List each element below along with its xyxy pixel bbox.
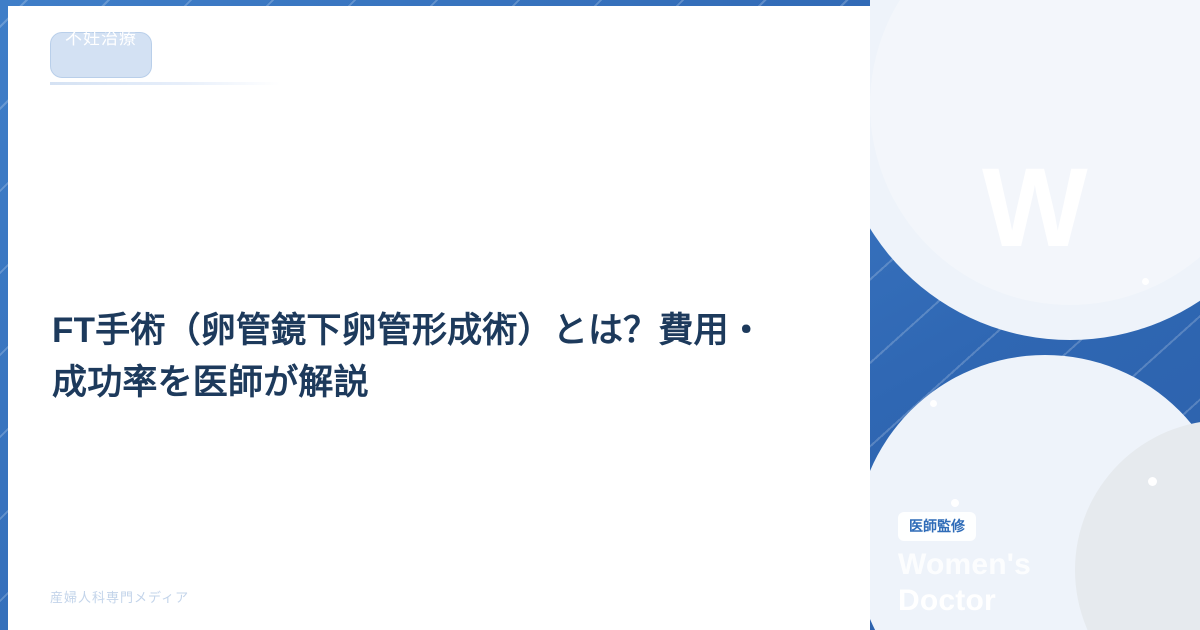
sparkle-dot-icon — [930, 400, 937, 407]
watermark-letter-w: W — [982, 152, 1086, 264]
content-card: 不妊治療 FT手術（卵管鏡下卵管形成術）とは？費用・成功率を医師が解説 産婦人科… — [8, 6, 870, 630]
brand-name: Women's Doctor — [898, 547, 1188, 618]
brand-block: 医師監修 Women's Doctor — [898, 512, 1188, 618]
brand-decoration-panel: W 医師監修 Women's Doctor — [870, 0, 1200, 630]
brand-name-line1: Women's — [898, 547, 1188, 582]
site-tagline: 産婦人科専門メディア — [50, 587, 189, 606]
sparkle-dot-icon — [1148, 477, 1157, 486]
category-badge-label: 不妊治療 — [50, 30, 152, 47]
header-divider — [50, 82, 280, 85]
og-image-canvas: W 医師監修 Women's Doctor 不妊治療 FT手術（卵管鏡下卵管形成… — [0, 0, 1200, 630]
sparkle-dot-icon — [951, 499, 959, 507]
page-title: FT手術（卵管鏡下卵管形成術）とは？費用・成功率を医師が解説 — [52, 305, 792, 409]
supervision-badge: 医師監修 — [898, 512, 976, 541]
brand-name-line2: Doctor — [898, 583, 1188, 618]
sparkle-dot-icon — [1142, 278, 1149, 285]
